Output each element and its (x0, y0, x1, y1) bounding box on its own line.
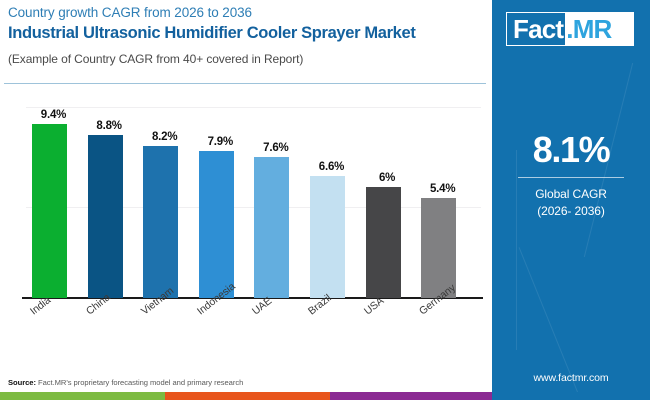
bar-slot: 9.4% (26, 105, 81, 298)
bar-value-label: 9.4% (26, 109, 81, 121)
bar-value-label: 8.8% (82, 120, 137, 132)
stripe-segment-1 (0, 392, 165, 400)
bar-brazil[interactable] (310, 176, 345, 298)
bar-china[interactable] (88, 135, 123, 298)
page-title: Industrial Ultrasonic Humidifier Cooler … (8, 23, 486, 44)
bar-slot: 8.8% (82, 105, 137, 298)
bar-slot: 7.6% (248, 105, 303, 298)
bar-value-label: 6.6% (304, 161, 359, 173)
website-url[interactable]: www.factmr.com (492, 372, 650, 384)
bar-value-label: 8.2% (137, 131, 192, 143)
bar-uae[interactable] (254, 157, 289, 298)
kicker-text: Country growth CAGR from 2026 to 2036 (8, 4, 486, 21)
source-prefix: Source: (8, 378, 36, 387)
bar-value-label: 7.6% (248, 142, 303, 154)
bar-value-label: 7.9% (193, 136, 248, 148)
subtitle-text: (Example of Country CAGR from 40+ covere… (8, 51, 486, 67)
bar-usa[interactable] (366, 187, 401, 298)
bar-india[interactable] (32, 124, 67, 298)
cagr-caption-line1: Global CAGR (492, 186, 650, 203)
header-divider (4, 83, 486, 84)
decor-line-3 (519, 247, 595, 392)
bar-value-label: 6% (360, 172, 415, 184)
bar-vietnam[interactable] (143, 146, 178, 298)
bar-chart: 9.4%8.8%8.2%7.9%7.6%6.6%6%5.4% IndiaChin… (0, 90, 490, 370)
logo-fact-text: Fact (507, 13, 565, 45)
bar-slot: 5.4% (415, 105, 470, 298)
bar-indonesia[interactable] (199, 151, 234, 298)
brand-panel: Fact .MR 8.1% Global CAGR (2026- 2036) w… (492, 0, 650, 392)
cagr-divider (518, 177, 624, 178)
bar-value-label: 5.4% (415, 183, 470, 195)
bar-slot: 6% (360, 105, 415, 298)
infographic-page: Country growth CAGR from 2026 to 2036 In… (0, 0, 650, 400)
logo-mr-text: .MR (565, 13, 617, 45)
factmr-logo[interactable]: Fact .MR (506, 12, 634, 46)
chart-panel: Country growth CAGR from 2026 to 2036 In… (0, 0, 490, 392)
stripe-segment-3 (330, 392, 492, 400)
global-cagr-block: 8.1% Global CAGR (2026- 2036) (492, 130, 650, 220)
stripe-segment-2 (165, 392, 330, 400)
bar-slot: 6.6% (304, 105, 359, 298)
header-block: Country growth CAGR from 2026 to 2036 In… (8, 4, 486, 67)
source-text: Fact.MR's proprietary forecasting model … (36, 378, 243, 387)
bottom-color-stripe (0, 392, 650, 400)
stripe-segment-4 (492, 392, 650, 400)
bar-slot: 7.9% (193, 105, 248, 298)
global-cagr-value: 8.1% (492, 130, 650, 170)
source-note: Source: Fact.MR's proprietary forecastin… (8, 378, 243, 387)
bar-slot: 8.2% (137, 105, 192, 298)
cagr-caption-line2: (2026- 2036) (492, 203, 650, 220)
